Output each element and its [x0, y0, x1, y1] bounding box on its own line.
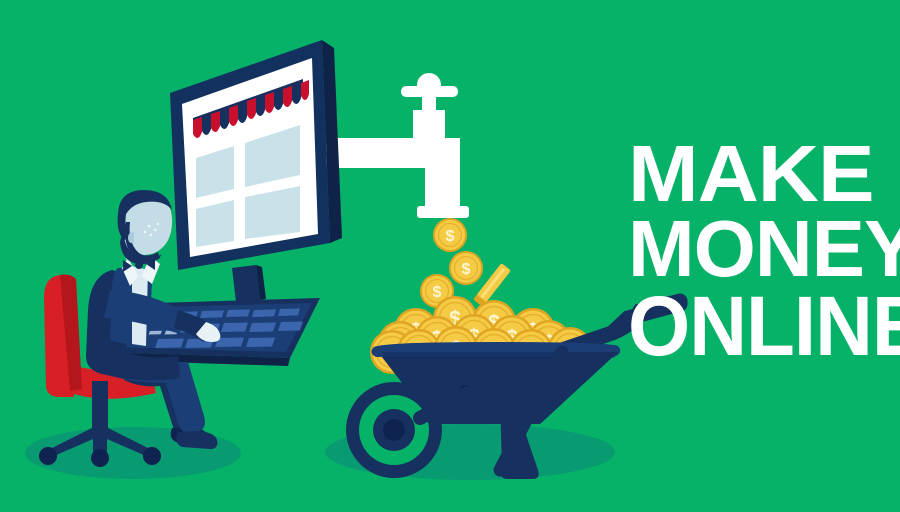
headline-line-money: MONEY [628, 211, 888, 287]
illustration-canvas: $ $ [0, 0, 900, 512]
headline-line-online: ONLINE [628, 286, 888, 367]
chair-caster [143, 447, 161, 465]
headline-line-make: MAKE [628, 136, 900, 212]
chair-caster [39, 447, 57, 465]
chair-caster [91, 449, 109, 467]
